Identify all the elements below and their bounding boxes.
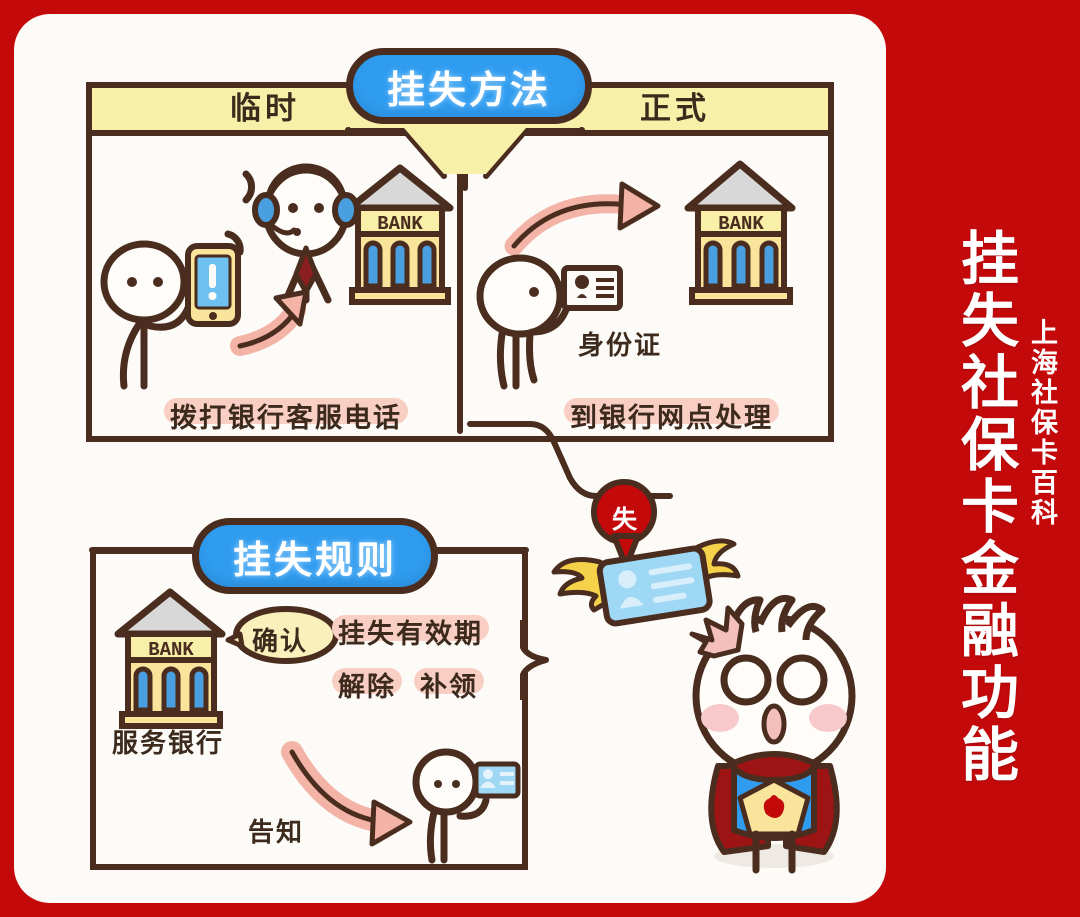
- smartphone-icon: [188, 246, 238, 324]
- curved-arrow-icon: [514, 184, 658, 246]
- label-id-card: 身份证: [578, 325, 662, 362]
- id-card-icon: [564, 268, 620, 308]
- mascot-character-icon: [648, 588, 898, 888]
- bank-icon: BANK: [688, 164, 792, 302]
- temporary-method-illustration: BANK: [100, 150, 450, 410]
- person-with-phone-icon: [104, 234, 240, 386]
- label-notify: 告知: [248, 812, 304, 849]
- person-with-id-icon: [480, 258, 620, 386]
- column-header-formal: 正式: [600, 88, 750, 130]
- rail-main-title: 挂失社保卡金融功能: [930, 228, 1014, 786]
- notify-illustration: [280, 740, 510, 865]
- label-service-bank: 服务银行: [112, 723, 224, 760]
- caption-call-bank-hotline: 拨打银行客服电话: [168, 396, 404, 435]
- term-reissue: 补领: [420, 665, 478, 704]
- rules-panel-notch: [506, 620, 566, 700]
- caption-visit-bank-branch: 到银行网点处理: [568, 396, 775, 435]
- curved-arrow-icon: [240, 292, 306, 346]
- term-cancel: 解除: [338, 665, 396, 704]
- curved-arrow-icon: [292, 752, 410, 844]
- person-with-card-icon: [416, 752, 518, 860]
- svg-text:BANK: BANK: [148, 639, 194, 661]
- badge-notch-decoration: [340, 128, 590, 184]
- term-validity-period: 挂失有效期: [338, 612, 483, 651]
- label-confirm: 确认: [252, 621, 308, 658]
- bank-icon: BANK: [350, 168, 450, 302]
- svg-text:BANK: BANK: [718, 213, 764, 235]
- winged-card-icon: [540, 470, 760, 630]
- column-header-temporary: 临时: [190, 88, 340, 130]
- rail-sub-title: 上海社保卡百科: [1018, 318, 1056, 528]
- headset-operator-icon: [246, 167, 357, 300]
- infographic-root: 临时 正式 挂失方法 BANK: [0, 0, 1080, 917]
- badge-loss-report-rules: 挂失规则: [192, 518, 438, 594]
- svg-text:BANK: BANK: [377, 213, 423, 235]
- method-panel-divider: [457, 146, 463, 434]
- card-alert-label: 失: [612, 500, 637, 536]
- badge-loss-report-method: 挂失方法: [346, 48, 592, 124]
